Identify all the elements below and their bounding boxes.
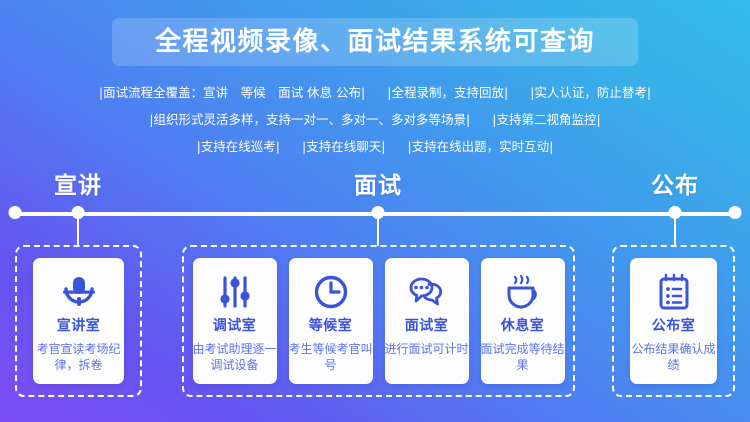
room-desc: 由考试助理逐一调试设备 [193,341,277,373]
title-banner: 全程视频录像、面试结果系统可查询 [112,18,638,66]
timeline-connector [674,218,676,246]
timeline-connector [377,218,379,246]
stage-label-gongbu: 公布 [651,175,699,198]
timeline-connector [77,218,79,246]
room-title: 休息室 [501,319,545,333]
room-desc: 考官宣读考场纪律，拆卷 [37,341,121,373]
room-title: 调试室 [213,319,257,333]
feature-item: |实人认证，防止替考| [530,87,651,100]
room-desc: 考生等候考官叫号 [289,341,373,373]
room-card[interactable]: 公布室 公布结果确认成绩 [630,258,717,384]
room-title: 公布室 [652,319,696,333]
room-card[interactable]: 宣讲室 考官宣读考场纪律，拆卷 [33,258,124,384]
stage-group-xuanjiang: 宣讲室 考官宣读考场纪律，拆卷 [15,245,142,397]
clipboard-icon [657,271,691,313]
feature-item: |支持在线聊天| [302,141,385,154]
chat-bubbles-icon [407,271,447,313]
microphone-icon [60,271,98,313]
room-desc: 面试完成等待结果 [481,341,565,373]
stage-label-mianshi: 面试 [354,175,402,198]
timeline-dot [9,206,22,219]
room-desc: 公布结果确认成绩 [632,341,716,373]
feature-item: |支持在线出题，实时互动| [407,141,553,154]
room-card[interactable]: 面试室 进行面试可计时 [385,258,469,384]
clock-icon [313,271,349,313]
timeline-dot [729,206,742,219]
feature-row: |面试流程全覆盖：宣讲 等候 面试 休息 公布| |全程录制，支持回放| |实人… [0,80,750,107]
feature-list: |面试流程全覆盖：宣讲 等候 面试 休息 公布| |全程录制，支持回放| |实人… [0,80,750,161]
sliders-icon [217,271,253,313]
feature-row: |支持在线巡考| |支持在线聊天| |支持在线出题，实时互动| [0,134,750,161]
room-title: 宣讲室 [57,319,101,333]
room-card[interactable]: 等候室 考生等候考官叫号 [289,258,373,384]
feature-item: |面试流程全覆盖：宣讲 等候 面试 休息 公布| [99,87,365,100]
feature-item: |全程录制，支持回放| [387,87,508,100]
room-title: 面试室 [405,319,449,333]
feature-row: |组织形式灵活多样，支持一对一、多对一、多对多等场景| |支持第二视角监控| [0,107,750,134]
feature-item: |支持第二视角监控| [492,114,600,127]
stage-group-mianshi: 调试室 由考试助理逐一调试设备 等候室 考生等候考官叫号 [182,245,575,397]
room-title: 等候室 [309,319,353,333]
page-title: 全程视频录像、面试结果系统可查询 [155,29,595,55]
promo-poster: 全程视频录像、面试结果系统可查询 |面试流程全覆盖：宣讲 等候 面试 休息 公布… [0,0,750,422]
room-card[interactable]: 休息室 面试完成等待结果 [481,258,565,384]
stage-label-xuanjiang: 宣讲 [54,175,102,198]
stage-group-gongbu: 公布室 公布结果确认成绩 [612,245,735,397]
coffee-cup-icon [503,271,543,313]
feature-item: |组织形式灵活多样，支持一对一、多对一、多对多等场景| [149,114,470,127]
room-card[interactable]: 调试室 由考试助理逐一调试设备 [193,258,277,384]
feature-item: |支持在线巡考| [197,141,280,154]
room-desc: 进行面试可计时 [385,341,469,357]
